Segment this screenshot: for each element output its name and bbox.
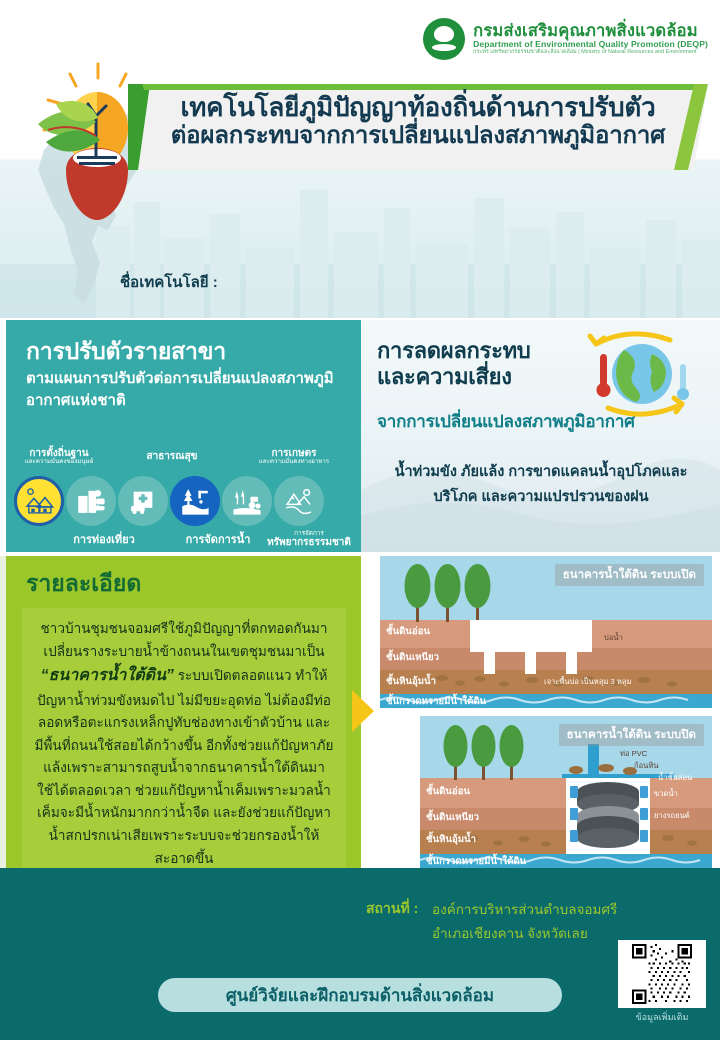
impact-risk-line1: น้ำท่วมขัง ภัยแล้ง การขาดแคลนน้ำอุปโภคแล… — [395, 464, 688, 480]
open-label-aquifer: ชั้นหินอุ้มน้ำ — [386, 674, 436, 689]
details-heading: รายละเอียด — [26, 566, 141, 602]
open-label-softsoil: ชั้นดินอ่อน — [386, 624, 430, 639]
main-title-ribbon: เทคโนโลยีภูมิปัญญาท้องถิ่นด้านการปรับตัว… — [128, 84, 708, 170]
details-text-before: ชาวบ้านชุมชนจอมศรีใช้ภูมิปัญญาที่ตกทอดกั… — [40, 621, 327, 659]
main-title-line1: เทคโนโลยีภูมิปัญญาท้องถิ่นด้านการปรับตัว — [128, 92, 708, 122]
flow-arrow-icon — [352, 690, 374, 732]
closed-callout-rock: ก้อนหิน — [634, 760, 659, 772]
deqp-tree-water-emblem-icon — [423, 18, 465, 60]
footer-band — [0, 868, 720, 1040]
open-callout-pond: บ่อน้ำ — [604, 632, 623, 644]
closed-callout-pvc: ท่อ PVC — [620, 748, 647, 760]
closed-system-title: ธนาคารน้ำใต้ดิน ระบบปิด — [559, 724, 704, 746]
impact-risk-text: น้ำท่วมขัง ภัยแล้ง การขาดแคลนน้ำอุปโภคแล… — [375, 460, 707, 510]
poster-root: กรมส่งเสริมคุณภาพสิ่งแวดล้อม Department … — [0, 0, 720, 1040]
logo-text-block: กรมส่งเสริมคุณภาพสิ่งแวดล้อม Department … — [473, 23, 708, 56]
closed-label-gravel: ชั้นกรวดทรายมีน้ำใต้ดิน — [426, 854, 526, 868]
sector-label-water: การจัดการน้ำ — [172, 534, 264, 546]
technology-label: ชื่อเทคโนโลยี : — [120, 270, 218, 294]
qr-code-icon[interactable] — [618, 940, 706, 1008]
closed-callout-bottle: ขวดน้ำ — [654, 788, 678, 800]
sector-label-health: สาธารณสุข — [132, 451, 212, 462]
main-title: เทคโนโลยีภูมิปัญญาท้องถิ่นด้านการปรับตัว… — [128, 92, 708, 150]
tree-group-open — [405, 564, 491, 622]
adaptation-subheading: ตามแผนการปรับตัวต่อการเปลี่ยนแปลงสภาพภูม… — [26, 368, 346, 412]
closed-label-aquifer: ชั้นหินอุ้มน้ำ — [426, 832, 476, 847]
globe-thermometer-icon — [578, 328, 698, 420]
ministry-name: กระทรวงทรัพยากรธรรมชาติและสิ่งแวดล้อม | … — [473, 50, 708, 56]
open-label-gravel: ชั้นกรวดทรายมีน้ำใต้ดิน — [386, 694, 486, 708]
impact-heading: การลดผลกระทบ และความเสี่ยง — [377, 338, 577, 390]
sector-label-agriculture: การเกษตร และความมั่นคงทางอาหาร — [246, 448, 342, 466]
closed-system-diagram: ธนาคารน้ำใต้ดิน ระบบปิด ชั้นดินอ่อน ชั้น… — [420, 716, 712, 868]
org-name-th: กรมส่งเสริมคุณภาพสิ่งแวดล้อม — [473, 23, 708, 41]
closed-callout-tire: ยางรถยนต์ — [654, 810, 690, 822]
location-line1: องค์การบริหารส่วนตำบลจอมศรี — [432, 898, 617, 920]
agriculture-tractor-icon[interactable] — [222, 476, 272, 526]
impact-heading-line1: การลดผลกระทบ — [377, 338, 530, 363]
closed-callout-topsoil: น้ำชั้นล่อน — [658, 772, 692, 784]
tourism-city-car-icon[interactable] — [66, 476, 116, 526]
tree-group-closed — [444, 725, 524, 780]
main-title-line2: ต่อผลกระทบจากการเปลี่ยนแปลงสภาพภูมิอากาศ — [128, 122, 708, 150]
impact-risk-line2: บริโภค และความแปรปรวนของฝน — [433, 489, 648, 505]
qr-caption: ข้อมูลเพิ่มเติม — [618, 1010, 706, 1024]
qr-block[interactable]: ข้อมูลเพิ่มเติม — [618, 940, 706, 1028]
details-text-after: ระบบเปิดตลอดแนว ทำให้ปัญหาน้ำท่วมขังหมดไ… — [35, 668, 334, 865]
water-tap-river-icon[interactable] — [170, 476, 220, 526]
adaptation-panel: การปรับตัวรายสาขา ตามแผนการปรับตัวต่อการ… — [6, 320, 361, 552]
hero-area: เทคโนโลยีภูมิปัญญาท้องถิ่นด้านการปรับตัว… — [0, 60, 720, 318]
closed-label-clay: ชั้นดินเหนียว — [426, 810, 479, 825]
closed-label-softsoil: ชั้นดินอ่อน — [426, 784, 470, 799]
sector-icon-strip: การตั้งถิ่นฐาน และความมั่นคงของมนุษย์ สา… — [14, 448, 356, 544]
deqp-logo: กรมส่งเสริมคุณภาพสิ่งแวดล้อม Department … — [423, 18, 708, 60]
sector-label-tourism: การท่องเที่ยว — [56, 534, 152, 546]
sector-label-settlement: การตั้งถิ่นฐาน และความมั่นคงของมนุษย์ — [16, 448, 102, 466]
tire-stack — [577, 782, 639, 848]
adaptation-heading: การปรับตัวรายสาขา — [26, 334, 226, 370]
open-system-diagram: ธนาคารน้ำใต้ดิน ระบบเปิด ชั้นดินอ่อน ชั้… — [380, 556, 712, 708]
impact-heading-line2: และความเสี่ยง — [377, 364, 512, 389]
sector-icon-row — [14, 474, 356, 528]
hospital-ambulance-icon[interactable] — [118, 476, 168, 526]
natural-resources-mountain-icon[interactable] — [274, 476, 324, 526]
impact-panel: การลดผลกระทบ และความเสี่ยง จากการเปลี่ยน… — [361, 320, 720, 552]
open-callout-holes: เจาะพื้นบ่อ เป็นหลุม 3 หลุม — [544, 676, 631, 688]
location-line2: อำเภอเชียงคาน จังหวัดเลย — [432, 922, 588, 944]
open-system-title: ธนาคารน้ำใต้ดิน ระบบเปิด — [555, 564, 704, 586]
details-highlight-term: “ธนาคารน้ำใต้ดิน” — [41, 667, 174, 684]
village-houses-icon[interactable] — [14, 476, 64, 526]
sector-label-natural-resources: การจัดการ ทรัพยากรธรรมชาติ — [262, 530, 356, 548]
open-label-clay: ชั้นดินเหนียว — [386, 650, 439, 665]
location-label: สถานที่ : — [366, 898, 418, 920]
research-center-pill[interactable]: ศูนย์วิจัยและฝึกอบรมด้านสิ่งแวดล้อม — [158, 978, 562, 1012]
